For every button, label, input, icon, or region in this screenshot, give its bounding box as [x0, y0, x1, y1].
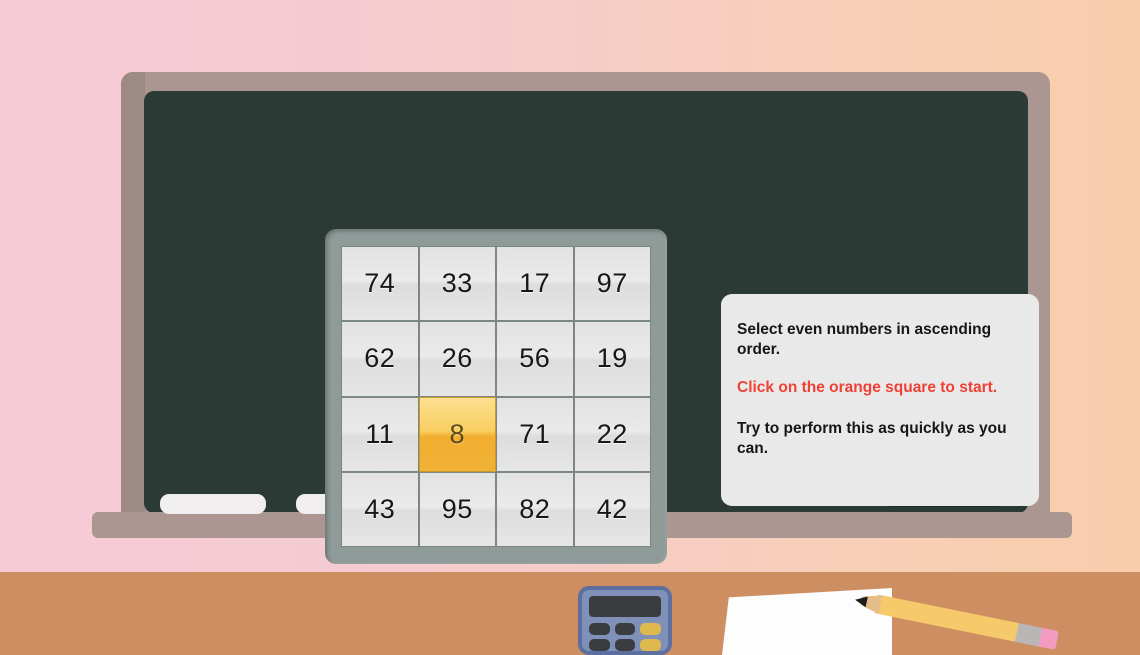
- grid-cell[interactable]: 26: [419, 321, 497, 396]
- grid-cell[interactable]: 82: [496, 472, 574, 547]
- grid-cell[interactable]: 95: [419, 472, 497, 547]
- chalk-stick-left[interactable]: [160, 494, 266, 514]
- calculator-key[interactable]: [589, 639, 610, 651]
- chalkboard-frame-shadow: [121, 72, 145, 532]
- calculator-key-accent[interactable]: [640, 623, 661, 635]
- instruction-line-tip: Try to perform this as quickly as you ca…: [737, 419, 1017, 459]
- number-grid[interactable]: 74 33 17 97 62 26 56 19 11 8 71 22 43 95…: [341, 246, 651, 547]
- grid-cell[interactable]: 33: [419, 246, 497, 321]
- calculator[interactable]: [578, 586, 672, 655]
- instruction-line-primary: Select even numbers in ascending order.: [737, 320, 1017, 360]
- grid-cell[interactable]: 42: [574, 472, 652, 547]
- grid-cell[interactable]: 43: [341, 472, 419, 547]
- calculator-keypad[interactable]: [589, 623, 661, 655]
- grid-cell[interactable]: 62: [341, 321, 419, 396]
- calculator-key[interactable]: [615, 623, 636, 635]
- pencil-eraser: [1038, 628, 1058, 650]
- calculator-key[interactable]: [615, 639, 636, 651]
- grid-cell[interactable]: 74: [341, 246, 419, 321]
- grid-cell[interactable]: 22: [574, 397, 652, 472]
- instructions-panel: Select even numbers in ascending order. …: [721, 294, 1039, 506]
- pencil-graphite-tip: [854, 594, 868, 607]
- grid-cell[interactable]: 71: [496, 397, 574, 472]
- grid-cell-highlighted[interactable]: 8: [419, 397, 497, 472]
- instruction-line-alert: Click on the orange square to start.: [737, 378, 1017, 398]
- grid-cell[interactable]: 56: [496, 321, 574, 396]
- grid-cell[interactable]: 19: [574, 321, 652, 396]
- grid-cell[interactable]: 17: [496, 246, 574, 321]
- calculator-key[interactable]: [589, 623, 610, 635]
- calculator-screen: [589, 596, 661, 617]
- number-grid-frame: 74 33 17 97 62 26 56 19 11 8 71 22 43 95…: [325, 229, 667, 564]
- calculator-key-accent[interactable]: [640, 639, 661, 651]
- grid-cell[interactable]: 97: [574, 246, 652, 321]
- grid-cell[interactable]: 11: [341, 397, 419, 472]
- chalkboard: 74 33 17 97 62 26 56 19 11 8 71 22 43 95…: [92, 72, 1050, 532]
